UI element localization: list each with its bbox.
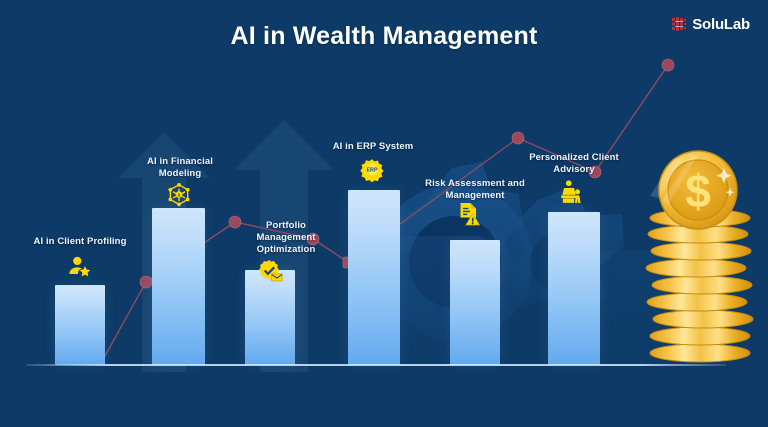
gear-icon-text: ERP (366, 168, 378, 174)
bar-erp-system (348, 190, 400, 365)
bar-client-advisory (548, 212, 600, 365)
label-erp-system: AI in ERP System (308, 141, 438, 153)
label-line: AI in Client Profiling (10, 236, 150, 248)
label-line: Risk Assessment and (403, 178, 547, 190)
infographic-canvas: AI in Wealth Management SoluLab (0, 0, 768, 427)
label-line: Optimization (228, 244, 344, 256)
label-financial-modeling: AI in Financial Modeling (113, 156, 247, 180)
label-client-profiling: AI in Client Profiling (10, 236, 150, 248)
bar-risk-assessment (450, 240, 500, 365)
label-client-advisory: Personalized Client Advisory (512, 152, 636, 176)
bar-client-profiling (55, 285, 105, 365)
coin-stack-coins (646, 209, 753, 362)
bar-portfolio-management (245, 270, 295, 365)
trend-point (512, 132, 524, 144)
badge-check-money-icon (258, 258, 284, 284)
label-risk-assessment: Risk Assessment and Management (403, 178, 547, 202)
label-line: Personalized Client (512, 152, 636, 164)
label-line: Advisory (512, 164, 636, 176)
dollar-symbol: $ (685, 165, 711, 217)
gear-erp-icon: ERP (359, 157, 385, 183)
user-star-icon (67, 254, 93, 280)
document-warning-icon (456, 201, 482, 227)
bar-financial-modeling (152, 208, 205, 365)
label-line: Modeling (113, 168, 247, 180)
label-line: Management (228, 232, 344, 244)
label-portfolio-management: Portfolio Management Optimization (228, 220, 344, 256)
advisor-desk-icon (559, 179, 585, 205)
trend-point (662, 59, 674, 71)
gold-coin-stack: $ (640, 150, 760, 368)
label-line: AI in Financial (113, 156, 247, 168)
network-hexagon-icon: $ (166, 182, 192, 208)
trend-point (140, 276, 152, 288)
label-line: AI in ERP System (308, 141, 438, 153)
chart-baseline (26, 364, 726, 366)
label-line: Portfolio (228, 220, 344, 232)
